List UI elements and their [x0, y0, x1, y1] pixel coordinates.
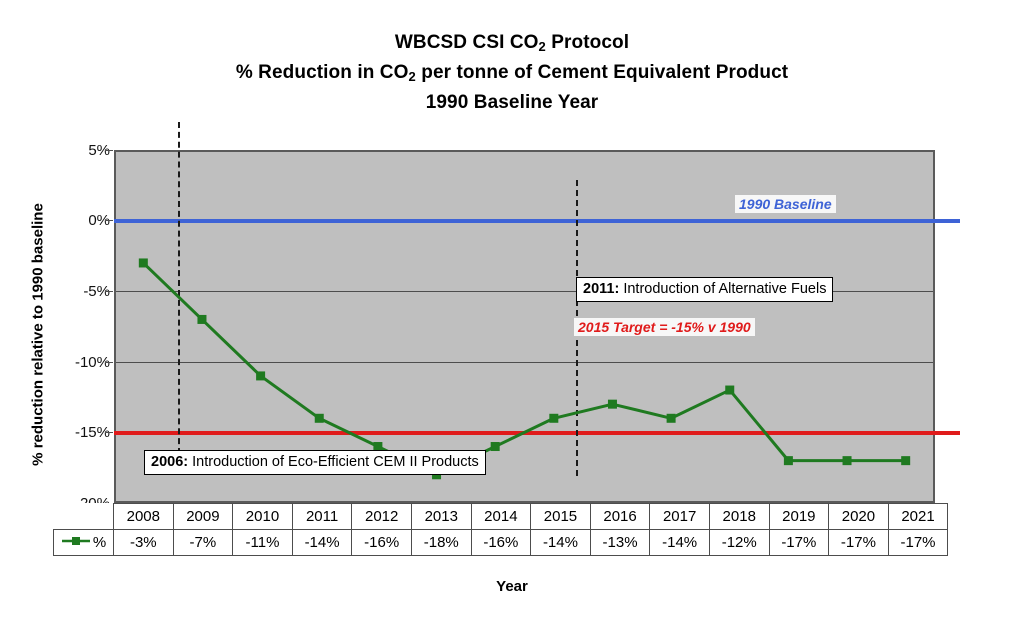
annotation-2011-year: 2011:: [583, 281, 619, 297]
table-value-cell: -14%: [650, 530, 710, 556]
table-value-cell: -12%: [709, 530, 769, 556]
data-point-marker: [667, 414, 676, 423]
annotation-1990-baseline: 1990 Baseline: [735, 195, 836, 213]
table-year-cell: 2013: [411, 504, 471, 530]
table-value-cell: -3%: [114, 530, 174, 556]
table-row-years: 2008200920102011201220132014201520162017…: [54, 504, 948, 530]
chart-container: WBCSD CSI CO2 Protocol % Reduction in CO…: [0, 0, 1024, 620]
table-row-values: % -3%-7%-11%-14%-16%-18%-16%-14%-13%-14%…: [54, 530, 948, 556]
table-value-cell: -17%: [769, 530, 829, 556]
legend-entry-percent: %: [54, 530, 114, 556]
table-year-cell: 2018: [709, 504, 769, 530]
annotation-2006-year: 2006:: [151, 454, 188, 470]
annotation-2006-text: Introduction of Eco-Efficient CEM II Pro…: [188, 454, 479, 470]
table-value-cell: -13%: [590, 530, 650, 556]
table-year-cell: 2015: [531, 504, 591, 530]
legend-label: %: [93, 534, 106, 551]
data-table: 2008200920102011201220132014201520162017…: [53, 503, 948, 556]
table-year-cell: 2009: [173, 504, 233, 530]
table-value-cell: -14%: [531, 530, 591, 556]
data-point-marker: [256, 371, 265, 380]
table-value-cell: -16%: [352, 530, 412, 556]
table-year-cell: 2017: [650, 504, 710, 530]
data-point-marker: [725, 386, 734, 395]
table-year-cell: 2010: [233, 504, 293, 530]
table-year-cell: 2019: [769, 504, 829, 530]
data-point-marker: [197, 315, 206, 324]
data-point-marker: [139, 258, 148, 267]
data-point-marker: [315, 414, 324, 423]
data-point-marker: [784, 456, 793, 465]
table-value-cell: -14%: [292, 530, 352, 556]
data-point-marker: [491, 442, 500, 451]
table-year-cell: 2014: [471, 504, 531, 530]
table-value-cell: -16%: [471, 530, 531, 556]
legend-line-marker-icon: [61, 534, 91, 552]
data-point-marker: [901, 456, 910, 465]
annotation-2006-cem2: 2006: Introduction of Eco-Efficient CEM …: [144, 450, 486, 475]
table-year-cell: 2021: [888, 504, 948, 530]
table-value-cell: -7%: [173, 530, 233, 556]
table-year-cell: 2008: [114, 504, 174, 530]
data-point-marker: [549, 414, 558, 423]
table-corner-cell: [54, 504, 114, 530]
annotation-2011-alternative-fuels: 2011: Introduction of Alternative Fuels: [576, 277, 833, 302]
data-point-marker: [608, 400, 617, 409]
table-value-cell: -17%: [888, 530, 948, 556]
table-value-cell: -18%: [411, 530, 471, 556]
table-value-cell: -11%: [233, 530, 293, 556]
table-year-cell: 2012: [352, 504, 412, 530]
table-year-cell: 2011: [292, 504, 352, 530]
data-point-marker: [843, 456, 852, 465]
table-year-cell: 2016: [590, 504, 650, 530]
annotation-2011-text: Introduction of Alternative Fuels: [619, 281, 826, 297]
x-axis-title: Year: [0, 578, 1024, 595]
annotation-2015-target: 2015 Target = -15% v 1990: [574, 318, 755, 336]
table-year-cell: 2020: [829, 504, 889, 530]
table-value-cell: -17%: [829, 530, 889, 556]
